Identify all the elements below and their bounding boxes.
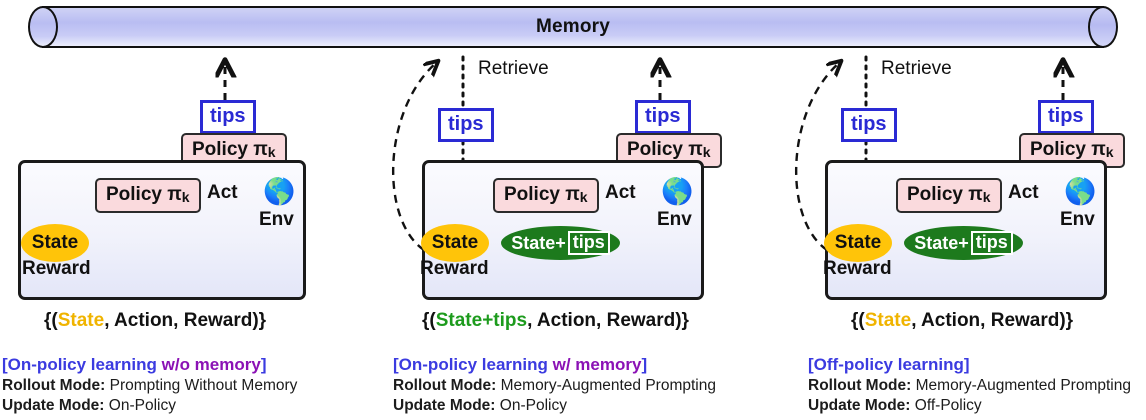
caption-title-memory-word: w/ memory [553,355,642,374]
caption-on-policy-wo-memory: [On-policy learning w/o memory] Rollout … [2,355,297,415]
caption-update-key: Update Mode: [808,397,910,414]
caption-update-key: Update Mode: [393,397,495,414]
panel3-reward-label: Reward [823,258,892,280]
panel3-tips-upload-box[interactable]: tips [1038,100,1094,134]
panel3-policy-inner-label: Policy π [907,184,983,205]
panel3-policy-inner-sub: k [983,189,991,205]
caption-title-pre: [Off-policy learning [808,355,964,374]
panel2-tuple-label: {(State+tips, Action, Reward)} [422,310,689,332]
panel3-tips-retrieve-box[interactable]: tips [841,108,897,142]
panel2-policy-inner-label: Policy π [504,184,580,205]
caption-rollout-key: Rollout Mode: [2,377,105,394]
caption-rollout-value: Memory-Augmented Prompting [911,377,1131,394]
caption-title-post: ] [261,355,267,374]
panel2-tips-upload-box[interactable]: tips [635,100,691,134]
caption-update-mode: Update Mode: Off-Policy [808,397,1131,415]
panel1-policy-inner-sub: k [182,189,190,205]
panel1-tips-upload-box[interactable]: tips [200,100,256,134]
panel2-state-ellipse: State [421,224,489,262]
panel1-tuple-rest: , Action, Reward)} [104,310,266,331]
panel1-policy-inner-box: Policy πk [95,178,201,213]
panel3-state-tips-box: tips [971,231,1013,256]
panel1-tuple-open: {( [44,310,58,331]
caption-title-pre: [On-policy learning [393,355,553,374]
caption-rollout-mode: Rollout Mode: Memory-Augmented Prompting [808,377,1131,395]
caption-title: [On-policy learning w/ memory] [393,355,716,375]
panel1-state-ellipse: State [21,224,89,262]
panel1-env-label: Env [259,209,294,231]
caption-update-value: On-Policy [495,397,567,414]
earth-globe-icon: 🌎 [1064,178,1096,204]
panel2-tuple-first: State+tips [436,310,527,331]
caption-title-memory-word: w/o memory [162,355,261,374]
caption-update-key: Update Mode: [2,397,104,414]
panel1-tuple-label: {(State, Action, Reward)} [44,310,266,332]
caption-update-value: On-Policy [104,397,176,414]
panel2-reward-label: Reward [420,258,489,280]
panel2-tips-retrieve-box[interactable]: tips [438,108,494,142]
panel2-state-tips-ellipse: State+tips [501,226,620,260]
earth-globe-icon: 🌎 [263,178,295,204]
caption-rollout-key: Rollout Mode: [393,377,496,394]
panel3-env-label: Env [1060,209,1095,231]
panel2-env-label: Env [657,209,692,231]
panel3-policy-inner-box: Policy πk [896,178,1002,213]
panel1-tuple-first: State [58,310,104,331]
caption-rollout-mode: Rollout Mode: Memory-Augmented Prompting [393,377,716,395]
caption-title: [On-policy learning w/o memory] [2,355,297,375]
panel2-tuple-rest: , Action, Reward)} [527,310,689,331]
panel3-state-tips-ellipse: State+tips [904,226,1023,260]
panel2-act-label: Act [605,182,636,204]
panel2-policy-inner-sub: k [580,189,588,205]
panel1-reward-label: Reward [22,258,91,280]
panel3-state-ellipse: State [824,224,892,262]
caption-title-post: ] [641,355,647,374]
caption-rollout-mode: Rollout Mode: Prompting Without Memory [2,377,297,395]
panel1-policy-top-label: Policy π [192,139,268,160]
caption-title: [Off-policy learning] [808,355,1131,375]
panel3-tuple-rest: , Action, Reward)} [911,310,1073,331]
memory-cylinder: Memory [14,6,1132,48]
caption-update-mode: Update Mode: On-Policy [393,397,716,415]
caption-rollout-key: Rollout Mode: [808,377,911,394]
panel3-policy-top-sub: k [1106,144,1114,160]
panel1-policy-inner-label: Policy π [106,184,182,205]
caption-title-post: ] [964,355,970,374]
panel2-policy-inner-box: Policy πk [493,178,599,213]
caption-rollout-value: Memory-Augmented Prompting [496,377,716,394]
panel3-retrieve-label: Retrieve [881,58,952,80]
panel2-policy-top-sub: k [703,144,711,160]
panel2-retrieve-label: Retrieve [478,58,549,80]
panel3-tuple-open: {( [851,310,865,331]
panel3-policy-top-label: Policy π [1030,139,1106,160]
caption-update-value: Off-Policy [910,397,981,414]
panel1-policy-top-sub: k [268,144,276,160]
caption-on-policy-w-memory: [On-policy learning w/ memory] Rollout M… [393,355,716,415]
caption-rollout-value: Prompting Without Memory [105,377,297,394]
panel2-tuple-open: {( [422,310,436,331]
panel3-tuple-first: State [865,310,911,331]
panel2-state-tips-prefix: State+ [511,233,566,254]
memory-label: Memory [14,6,1132,48]
panel2-state-tips-box: tips [568,231,610,256]
panel3-state-tips-prefix: State+ [914,233,969,254]
earth-globe-icon: 🌎 [661,178,693,204]
caption-update-mode: Update Mode: On-Policy [2,397,297,415]
panel2-policy-top-label: Policy π [627,139,703,160]
panel3-tuple-label: {(State, Action, Reward)} [851,310,1073,332]
panel1-act-label: Act [207,182,238,204]
caption-title-pre: [On-policy learning [2,355,162,374]
panel3-act-label: Act [1008,182,1039,204]
caption-off-policy: [Off-policy learning] Rollout Mode: Memo… [808,355,1131,415]
